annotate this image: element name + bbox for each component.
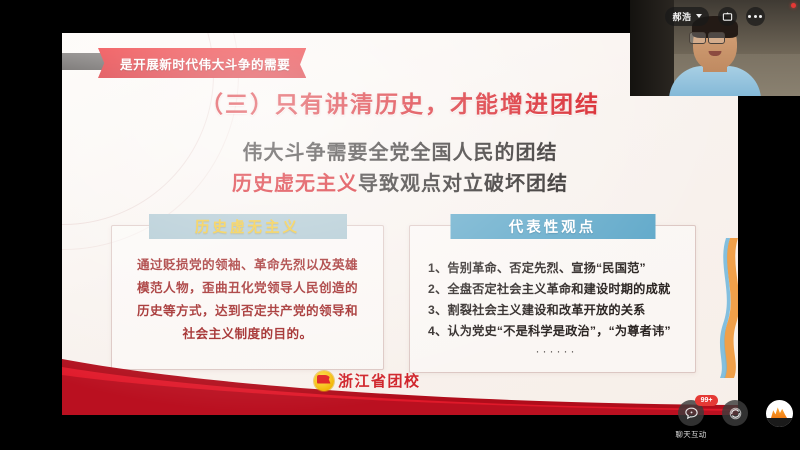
- viewpoints-card: 代表性观点 1、告别革命、否定先烈、宣扬“民国范” 2、全盘否定社会主义革命和建…: [409, 225, 696, 373]
- definition-card: 历史虚无主义 通过贬损党的领袖、革命先烈以及英雄 模范人物，歪曲丑化党领导人民创…: [111, 225, 384, 370]
- more-options-button[interactable]: [746, 7, 765, 26]
- footer-logo: 浙江省团校: [314, 370, 421, 391]
- refresh-loop-icon: [728, 406, 743, 421]
- recording-indicator-icon: [791, 3, 796, 8]
- list-item: 1、告别革命、否定先烈、宣扬“民国范”: [428, 258, 685, 279]
- viewpoints-list: 1、告别革命、否定先烈、宣扬“民国范” 2、全盘否定社会主义革命和建设时期的成就…: [428, 258, 685, 358]
- share-screen-button[interactable]: [718, 7, 737, 26]
- slide-statement: 伟大斗争需要全党全国人民的团结 历史虚无主义导致观点对立破坏团结: [62, 138, 738, 200]
- video-controls-bar: 郝浩: [630, 6, 800, 26]
- app-brand-bar: [766, 418, 793, 427]
- footer-logo-text: 浙江省团校: [338, 370, 421, 391]
- viewpoints-card-header: 代表性观点: [450, 214, 655, 239]
- chat-unread-badge: 99+: [695, 395, 718, 406]
- banner-label: 是开展新时代伟大斗争的需要: [120, 54, 290, 73]
- brand-tool[interactable]: [762, 400, 796, 430]
- participant-video-panel[interactable]: 郝浩: [630, 0, 800, 96]
- glasses-icon: [708, 32, 725, 44]
- share-screen-icon: [722, 11, 733, 22]
- participant-name-dropdown[interactable]: 郝浩: [665, 7, 708, 26]
- definition-line: 通过贬损党的领袖、革命先烈以及英雄: [120, 254, 375, 277]
- definition-line: 历史等方式，达到否定共产党的领导和: [120, 300, 375, 323]
- statement-line-2: 历史虚无主义导致观点对立破坏团结: [62, 168, 738, 200]
- chevron-down-icon: [696, 14, 702, 18]
- refresh-button[interactable]: [722, 400, 748, 426]
- statement-rest: 导致观点对立破坏团结: [358, 173, 568, 195]
- statement-highlight: 历史虚无主义: [232, 173, 358, 195]
- statement-line-1: 伟大斗争需要全党全国人民的团结: [62, 138, 738, 168]
- glasses-icon: [689, 32, 706, 44]
- banner-ribbon: 是开展新时代伟大斗争的需要: [98, 48, 306, 78]
- participant-figure: [669, 26, 761, 96]
- app-brand-icon: [771, 405, 787, 418]
- more-options-icon: [748, 15, 762, 18]
- screen: 是开展新时代伟大斗争的需要 （三）只有讲清历史，才能增进团结 伟大斗争需要全党全…: [0, 0, 800, 450]
- list-item: 4、认为党史“不是科学是政治”，“为尊者讳”: [428, 321, 685, 342]
- definition-line: 模范人物，歪曲丑化党领导人民创造的: [120, 277, 375, 300]
- flag-emblem-icon: [314, 371, 334, 391]
- chat-label: 聊天互动: [675, 429, 706, 440]
- chat-tool[interactable]: 99+ 聊天互动: [674, 400, 708, 440]
- chat-bubble-icon: [684, 406, 699, 421]
- chat-button[interactable]: 99+: [678, 400, 704, 426]
- list-item: 3、割裂社会主义建设和改革开放的关系: [428, 300, 685, 321]
- definition-line: 社会主义制度的目的。: [120, 323, 375, 346]
- list-item: 2、全盘否定社会主义革命和建设时期的成就: [428, 279, 685, 300]
- refresh-tool[interactable]: [718, 400, 752, 429]
- participant-name: 郝浩: [672, 10, 691, 23]
- floating-toolbar: 99+ 聊天互动: [674, 400, 796, 440]
- definition-card-header: 历史虚无主义: [149, 214, 347, 239]
- definition-card-body: 通过贬损党的领袖、革命先烈以及英雄 模范人物，歪曲丑化党领导人民创造的 历史等方…: [120, 254, 375, 346]
- app-brand-button[interactable]: [766, 400, 793, 427]
